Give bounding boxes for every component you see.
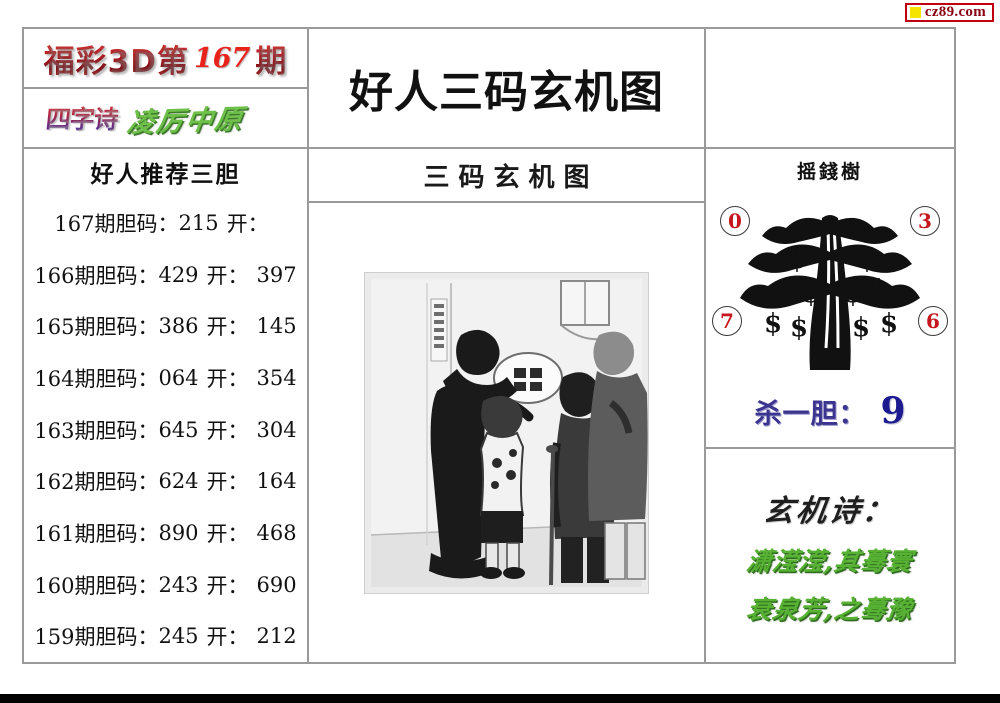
- svg-text:$: $: [788, 245, 806, 275]
- dan-code-list: 167期胆码： 215 开： 166期胆码： 429 开： 397 165期胆码…: [24, 195, 307, 662]
- table-row: 162期胆码： 624 开： 164: [24, 455, 307, 507]
- poem-line-2: 衰泉芳,之蓦豫: [744, 590, 915, 626]
- table-row: 164期胆码： 064 开： 354: [24, 352, 307, 404]
- table-row: 166期胆码： 429 开： 397: [24, 249, 307, 301]
- watermark-square-icon: [910, 7, 921, 18]
- comic-area: [309, 203, 704, 662]
- center-column: 好人三码玄机图 三码玄机图: [309, 29, 706, 662]
- row-issue: 161期胆码：: [34, 518, 158, 548]
- row-issue: 165期胆码：: [34, 311, 158, 341]
- row-dan: 243: [158, 573, 198, 597]
- table-row: 163期胆码： 645 开： 304: [24, 404, 307, 456]
- svg-text:$: $: [844, 279, 862, 309]
- row-open-label: 开：: [207, 570, 249, 600]
- row-issue: 164期胆码：: [34, 363, 158, 393]
- row-issue: 166期胆码：: [34, 260, 158, 290]
- table-row: 161期胆码： 890 开： 468: [24, 507, 307, 559]
- row-open-label: 开：: [207, 518, 249, 548]
- row-open: 145: [257, 314, 297, 338]
- row-open: 164: [257, 469, 297, 493]
- row-dan: 215: [179, 211, 219, 235]
- row-open: 304: [257, 418, 297, 442]
- center-subtitle-bar: 三码玄机图: [309, 149, 704, 203]
- kill-code-label: 杀一胆：: [754, 392, 866, 431]
- watermark-text: cz89.com: [925, 5, 986, 20]
- subtitle-bar: 四字诗 凌厉中原: [24, 89, 307, 149]
- recommendation-heading-bar: 好人推荐三胆: [24, 149, 307, 195]
- kill-code-row: 杀一胆： 9: [754, 390, 905, 432]
- row-open: 468: [257, 521, 297, 545]
- row-dan: 890: [158, 521, 198, 545]
- row-dan: 429: [158, 263, 198, 287]
- row-open-label: 开：: [207, 415, 249, 445]
- poem-line-1: 潇滢滢,其蓦寰: [744, 542, 915, 578]
- row-dan: 064: [158, 366, 198, 390]
- main-title-bar: 好人三码玄机图: [309, 29, 704, 149]
- row-issue: 160期胆码：: [34, 570, 158, 600]
- number-circle-bottom-right: 6: [918, 306, 948, 336]
- recommendation-heading: 好人推荐三胆: [91, 155, 241, 189]
- table-row: 160期胆码： 243 开： 690: [24, 559, 307, 611]
- comic-svg: [365, 273, 648, 593]
- svg-text:$: $: [776, 275, 794, 305]
- content-frame: 福彩3D第 167 期 四字诗 凌厉中原 好人推荐三胆 167期胆码： 215 …: [22, 27, 956, 664]
- issue-title-suffix: 期: [255, 36, 287, 81]
- mystery-poem-panel: 玄机诗： 潇滢滢,其蓦寰 衰泉芳,之蓦豫: [706, 449, 954, 662]
- poem-title: 玄机诗：: [761, 486, 899, 530]
- table-row: 165期胆码： 386 开： 145: [24, 300, 307, 352]
- row-dan: 245: [158, 624, 198, 648]
- money-tree-panel: 摇錢樹 0 3 7 6: [706, 149, 954, 449]
- page-root: cz89.com 福彩3D第 167 期 四字诗 凌厉中原 好人推荐三胆 167…: [0, 0, 1000, 703]
- row-issue: 163期胆码：: [34, 415, 158, 445]
- row-issue: 167期胆码：: [54, 208, 178, 238]
- svg-text:$: $: [764, 309, 782, 339]
- issue-title-prefix: 福彩3D第: [44, 36, 189, 81]
- center-subtitle: 三码玄机图: [414, 157, 598, 194]
- right-top-spacer: [706, 29, 954, 149]
- svg-text:$: $: [790, 313, 808, 343]
- row-open-label: 开：: [207, 311, 249, 341]
- bottom-black-bar: [0, 694, 1000, 703]
- kill-code-number: 9: [880, 390, 905, 432]
- row-dan: 645: [158, 418, 198, 442]
- row-open-label: 开：: [207, 621, 249, 651]
- page-title: 好人三码玄机图: [349, 56, 664, 120]
- row-issue: 159期胆码：: [34, 621, 158, 651]
- row-open: 212: [257, 624, 297, 648]
- svg-text:$: $: [870, 275, 888, 305]
- row-issue: 162期胆码：: [34, 466, 158, 496]
- right-column: 摇錢樹 0 3 7 6: [706, 29, 954, 662]
- row-open-label: 开：: [207, 363, 249, 393]
- table-row: 159期胆码： 245 开： 212: [24, 610, 307, 662]
- money-tree-label: 摇錢樹: [797, 157, 863, 184]
- issue-title-bar: 福彩3D第 167 期: [24, 29, 307, 89]
- money-tree-graphic: 0 3 7 6: [712, 188, 948, 388]
- table-row: 167期胆码： 215 开：: [24, 197, 307, 249]
- svg-text:$: $: [802, 279, 820, 309]
- row-dan: 386: [158, 314, 198, 338]
- row-open-label: 开：: [207, 260, 249, 290]
- subtitle-tag: 四字诗: [44, 100, 120, 136]
- row-open: 690: [257, 573, 297, 597]
- row-open: 397: [257, 263, 297, 287]
- svg-text:$: $: [880, 309, 898, 339]
- left-column: 福彩3D第 167 期 四字诗 凌厉中原 好人推荐三胆 167期胆码： 215 …: [24, 29, 309, 662]
- issue-number: 167: [189, 43, 255, 74]
- subtitle-poem: 凌厉中原: [125, 96, 247, 139]
- svg-text:$: $: [852, 313, 870, 343]
- row-open-label: 开：: [207, 466, 249, 496]
- row-open: 354: [257, 366, 297, 390]
- comic-illustration: [364, 272, 649, 594]
- row-open-label: 开：: [227, 208, 269, 238]
- tree-icon: $$ $$ $$ $$ $$: [740, 194, 920, 384]
- number-circle-bottom-left: 7: [712, 306, 742, 336]
- watermark-badge: cz89.com: [905, 3, 994, 22]
- row-dan: 624: [158, 469, 198, 493]
- svg-text:$: $: [858, 245, 876, 275]
